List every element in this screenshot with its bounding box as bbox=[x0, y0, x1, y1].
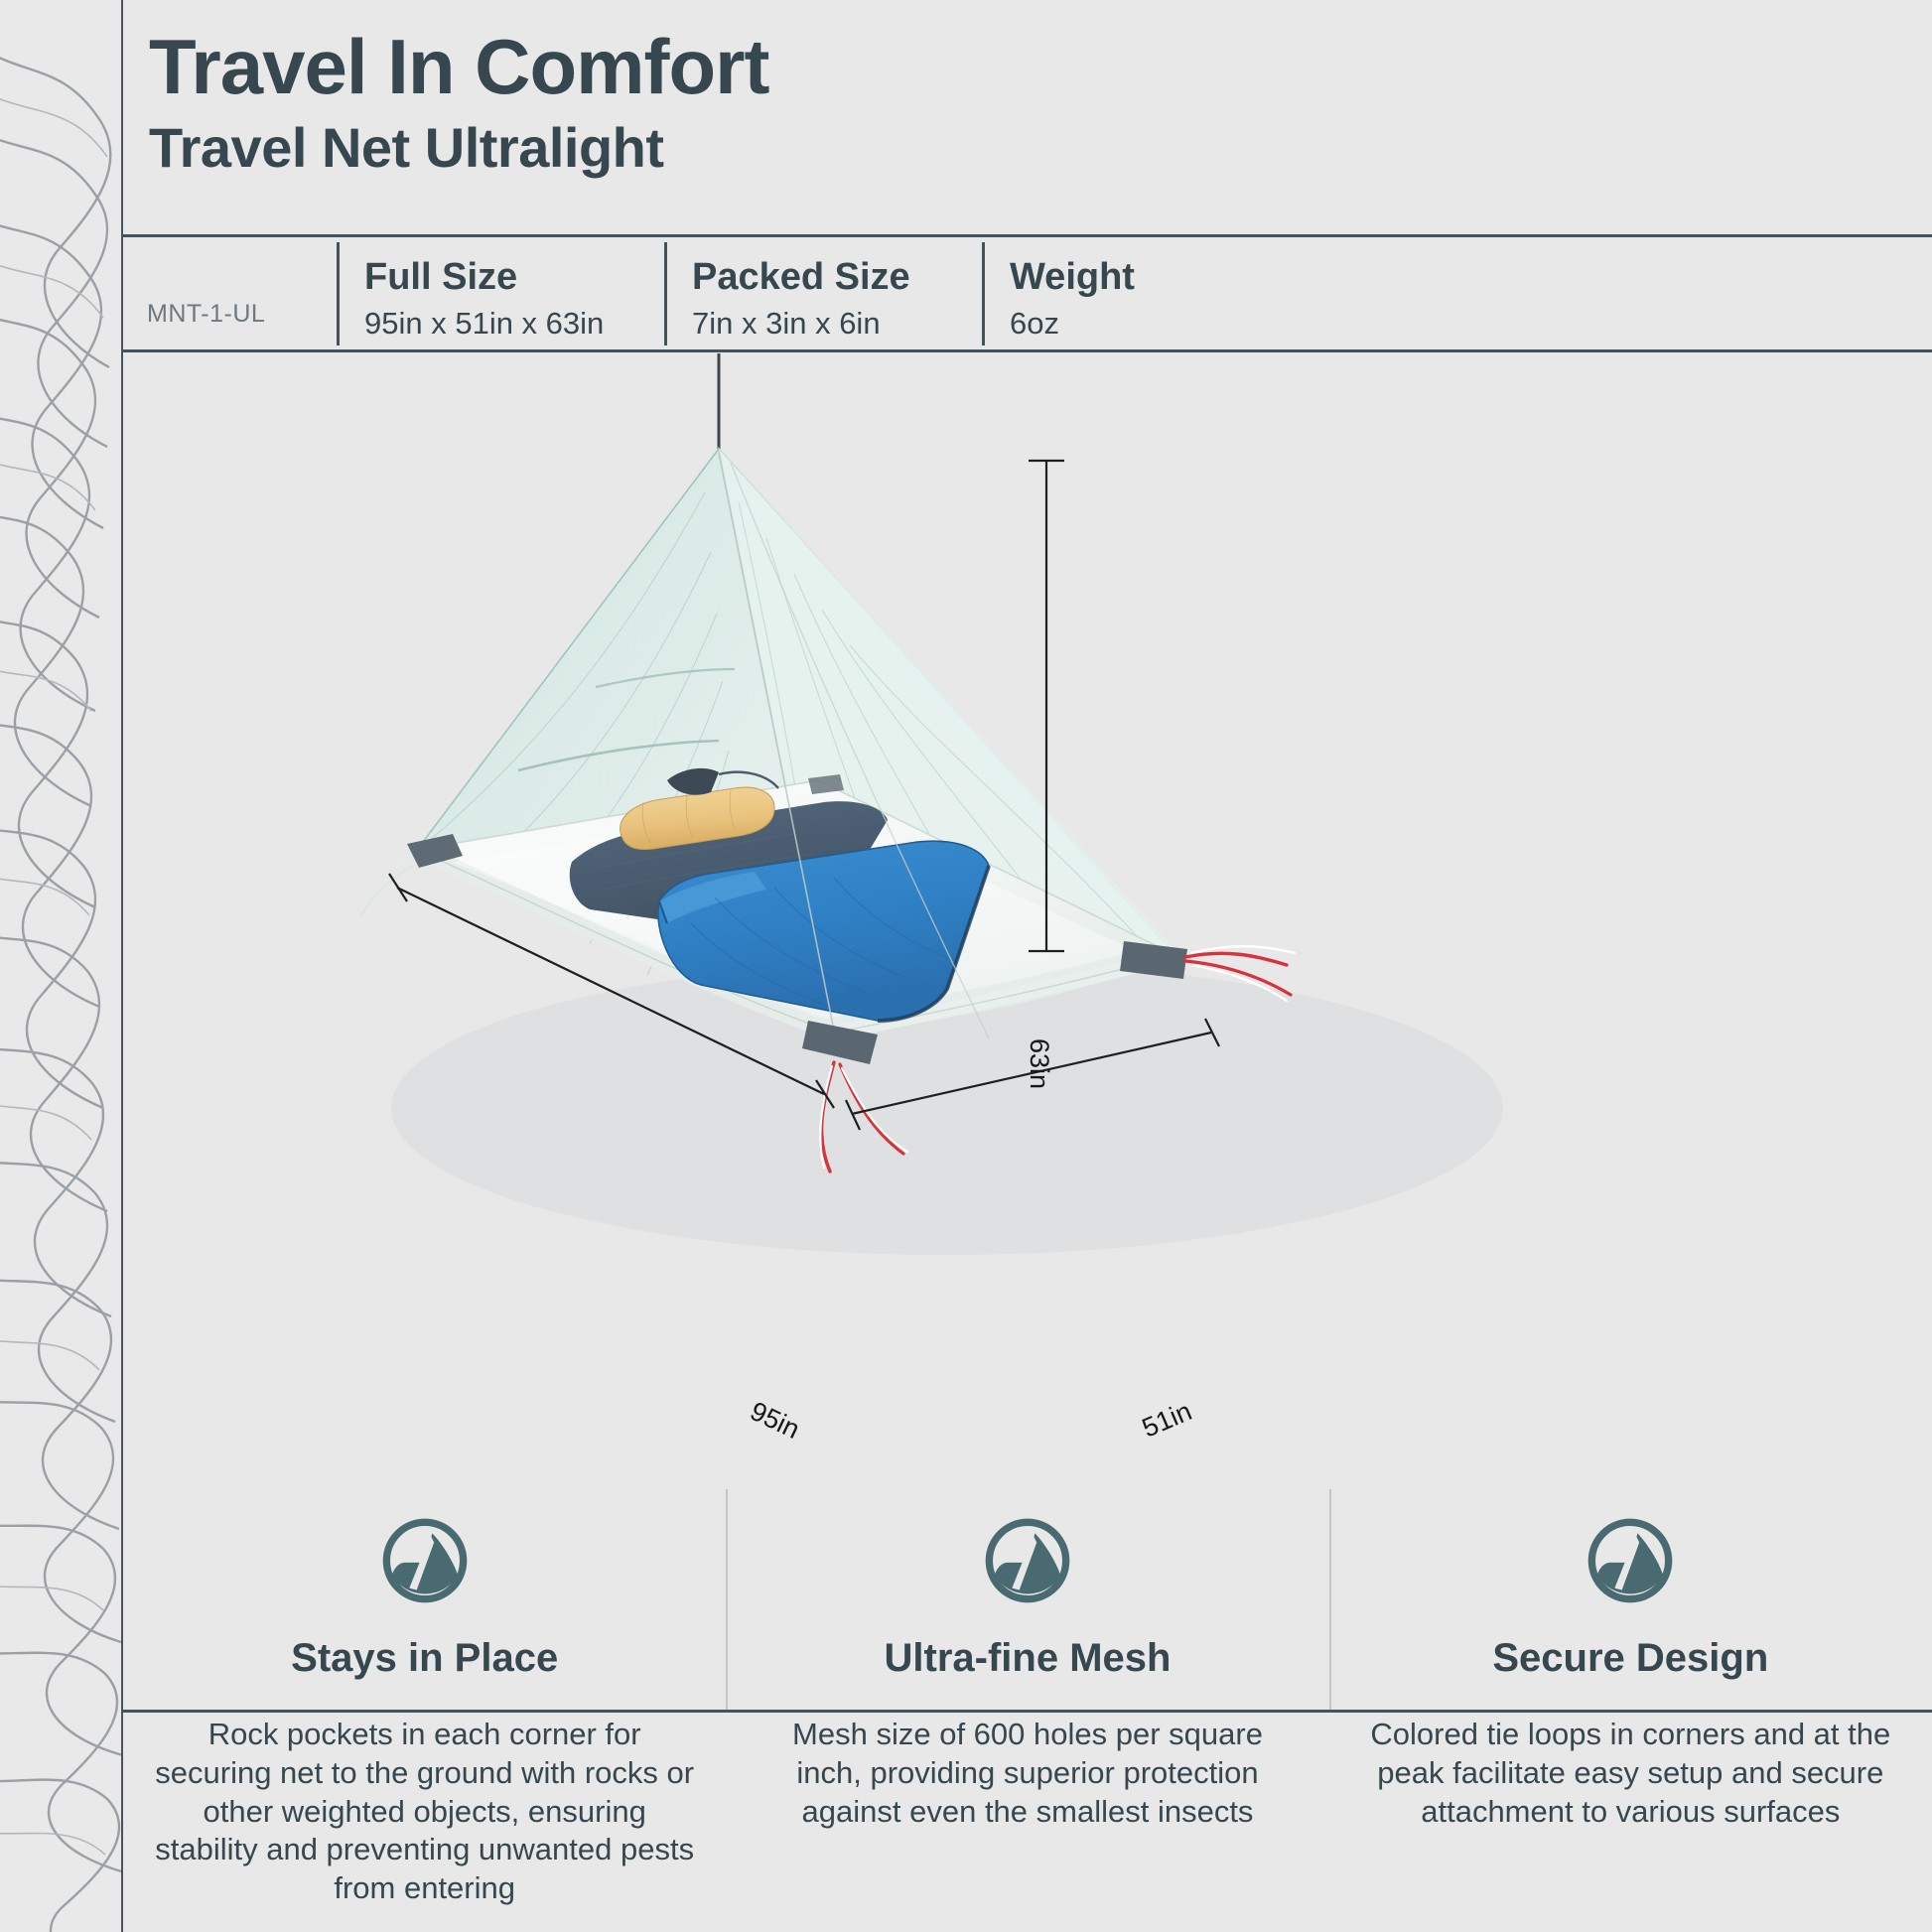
product-infographic: Travel In Comfort Travel Net Ultralight … bbox=[0, 0, 1932, 1932]
spec-bar: MNT-1-UL Full Size 95in x 51in x 63in Pa… bbox=[123, 238, 1932, 349]
spec-divider-bottom bbox=[123, 349, 1932, 352]
spec-value: 7in x 3in x 6in bbox=[692, 305, 982, 342]
topographic-pattern-strip bbox=[0, 0, 123, 1932]
spec-packed-size: Packed Size 7in x 3in x 6in bbox=[664, 238, 982, 342]
mountain-circle-icon bbox=[982, 1515, 1073, 1606]
feature-title: Ultra-fine Mesh bbox=[726, 1636, 1328, 1680]
header-divider bbox=[123, 234, 1932, 237]
spec-label: Weight bbox=[1010, 256, 1932, 300]
feature-title: Secure Design bbox=[1329, 1636, 1932, 1680]
sku-cell: MNT-1-UL bbox=[123, 238, 337, 329]
feature-divider bbox=[1329, 1489, 1331, 1710]
spec-weight: Weight 6oz bbox=[982, 238, 1932, 342]
spec-divider bbox=[982, 242, 985, 345]
feature-title: Stays in Place bbox=[123, 1636, 726, 1680]
spec-divider bbox=[664, 242, 667, 345]
feature-divider bbox=[726, 1489, 728, 1710]
page-title: Travel In Comfort bbox=[149, 28, 1837, 105]
spec-divider bbox=[337, 242, 340, 345]
feature-body: Rock pockets in each corner for securing… bbox=[123, 1716, 726, 1908]
spec-label: Packed Size bbox=[692, 256, 982, 300]
feature-body: Mesh size of 600 holes per square inch, … bbox=[726, 1716, 1328, 1831]
spec-label: Full Size bbox=[364, 256, 664, 300]
product-illustration: 95in 51in 63in bbox=[123, 353, 1932, 1485]
spec-value: 95in x 51in x 63in bbox=[364, 305, 664, 342]
product-name: Travel Net Ultralight bbox=[149, 119, 1837, 178]
mountain-circle-icon bbox=[1585, 1515, 1676, 1606]
spec-value: 6oz bbox=[1010, 305, 1932, 342]
feature-body: Colored tie loops in corners and at the … bbox=[1329, 1716, 1932, 1831]
sku-value: MNT-1-UL bbox=[147, 300, 265, 328]
dimension-label-height: 63in bbox=[1024, 1038, 1054, 1089]
mountain-circle-icon bbox=[379, 1515, 471, 1606]
header: Travel In Comfort Travel Net Ultralight bbox=[149, 28, 1837, 178]
spec-full-size: Full Size 95in x 51in x 63in bbox=[337, 238, 664, 342]
feature-divider-rule bbox=[123, 1710, 1932, 1713]
